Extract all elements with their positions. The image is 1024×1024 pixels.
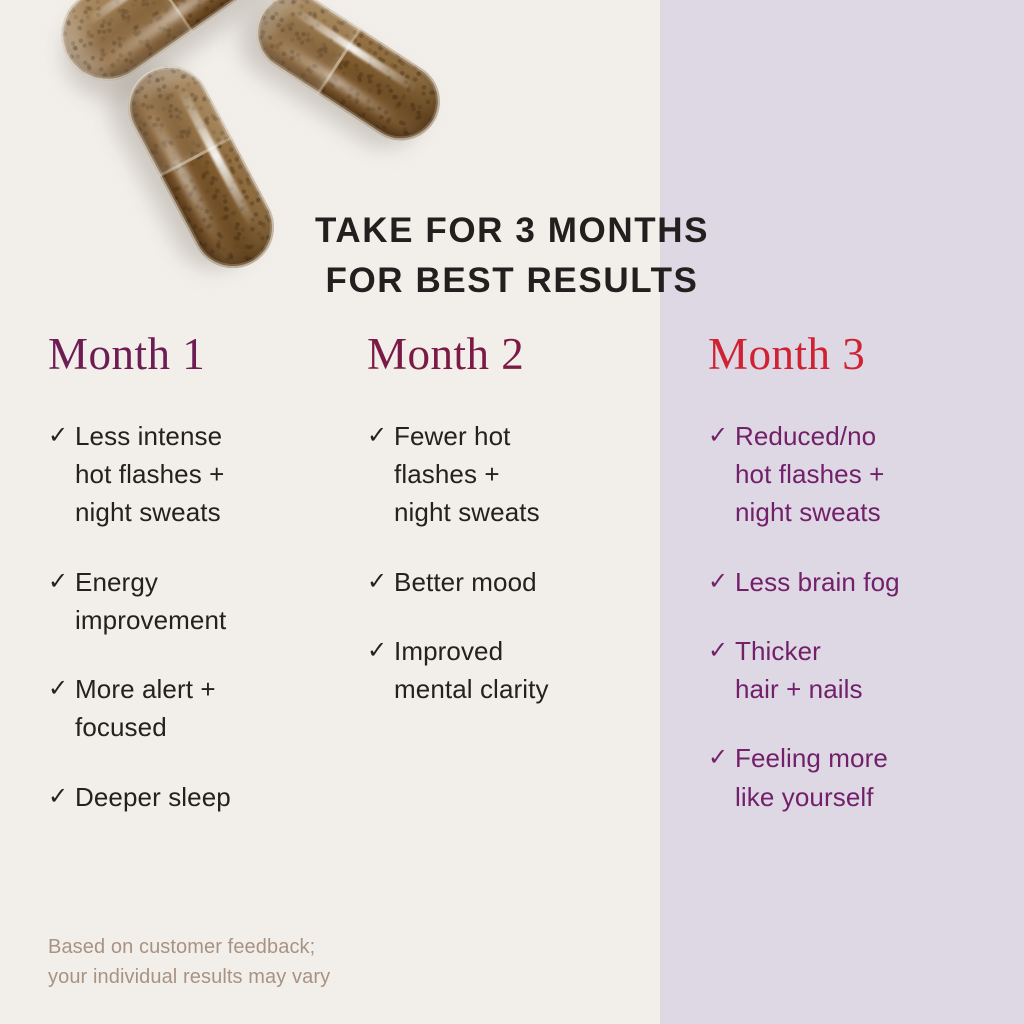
disclaimer-text: Based on customer feedback; your individ… <box>48 932 518 992</box>
list-item: ✓ Thicker hair + nails <box>708 632 1024 708</box>
headline: TAKE FOR 3 MONTHS FOR BEST RESULTS <box>0 206 1024 306</box>
benefit-text: Less intense hot flashes + night sweats <box>75 417 325 532</box>
check-icon: ✓ <box>367 417 394 454</box>
benefit-text: Thicker hair + nails <box>735 632 1024 708</box>
check-icon: ✓ <box>367 563 394 600</box>
benefit-text: Feeling more like yourself <box>735 739 1024 815</box>
capsule-top-right <box>241 0 455 155</box>
column-month-2: Month 2 ✓ Fewer hot flashes + night swea… <box>325 332 660 816</box>
month-3-benefit-list: ✓ Reduced/no hot flashes + night sweats … <box>708 417 1024 816</box>
benefit-text: Better mood <box>394 563 660 601</box>
list-item: ✓ Better mood <box>367 563 660 601</box>
list-item: ✓ Less intense hot flashes + night sweat… <box>48 417 325 532</box>
infographic-canvas: TAKE FOR 3 MONTHS FOR BEST RESULTS Month… <box>0 0 1024 1024</box>
list-item: ✓ Fewer hot flashes + night sweats <box>367 417 660 532</box>
benefit-text: Improved mental clarity <box>394 632 660 708</box>
month-1-title: Month 1 <box>48 332 325 377</box>
check-icon: ✓ <box>48 670 75 707</box>
check-icon: ✓ <box>708 563 735 600</box>
benefit-text: Fewer hot flashes + night sweats <box>394 417 660 532</box>
check-icon: ✓ <box>367 632 394 669</box>
list-item: ✓ Improved mental clarity <box>367 632 660 708</box>
check-icon: ✓ <box>48 563 75 600</box>
list-item: ✓ Energy improvement <box>48 563 325 639</box>
list-item: ✓ Less brain fog <box>708 563 1024 601</box>
list-item: ✓ More alert + focused <box>48 670 325 746</box>
month-3-title: Month 3 <box>708 332 1024 377</box>
check-icon: ✓ <box>708 417 735 454</box>
list-item: ✓ Reduced/no hot flashes + night sweats <box>708 417 1024 532</box>
list-item: ✓ Feeling more like yourself <box>708 739 1024 815</box>
benefit-text: Energy improvement <box>75 563 325 639</box>
benefit-text: Less brain fog <box>735 563 1024 601</box>
month-2-benefit-list: ✓ Fewer hot flashes + night sweats ✓ Bet… <box>367 417 660 708</box>
check-icon: ✓ <box>48 778 75 815</box>
benefit-text: More alert + focused <box>75 670 325 746</box>
benefit-text: Reduced/no hot flashes + night sweats <box>735 417 1024 532</box>
column-month-1: Month 1 ✓ Less intense hot flashes + nig… <box>0 332 325 816</box>
check-icon: ✓ <box>48 417 75 454</box>
benefit-text: Deeper sleep <box>75 778 325 816</box>
headline-line-1: TAKE FOR 3 MONTHS <box>0 206 1024 256</box>
check-icon: ✓ <box>708 632 735 669</box>
headline-line-2: FOR BEST RESULTS <box>0 256 1024 306</box>
list-item: ✓ Deeper sleep <box>48 778 325 816</box>
month-columns: Month 1 ✓ Less intense hot flashes + nig… <box>0 332 1024 816</box>
column-month-3: Month 3 ✓ Reduced/no hot flashes + night… <box>660 332 1024 816</box>
month-2-title: Month 2 <box>367 332 660 377</box>
month-1-benefit-list: ✓ Less intense hot flashes + night sweat… <box>48 417 325 816</box>
check-icon: ✓ <box>708 739 735 776</box>
